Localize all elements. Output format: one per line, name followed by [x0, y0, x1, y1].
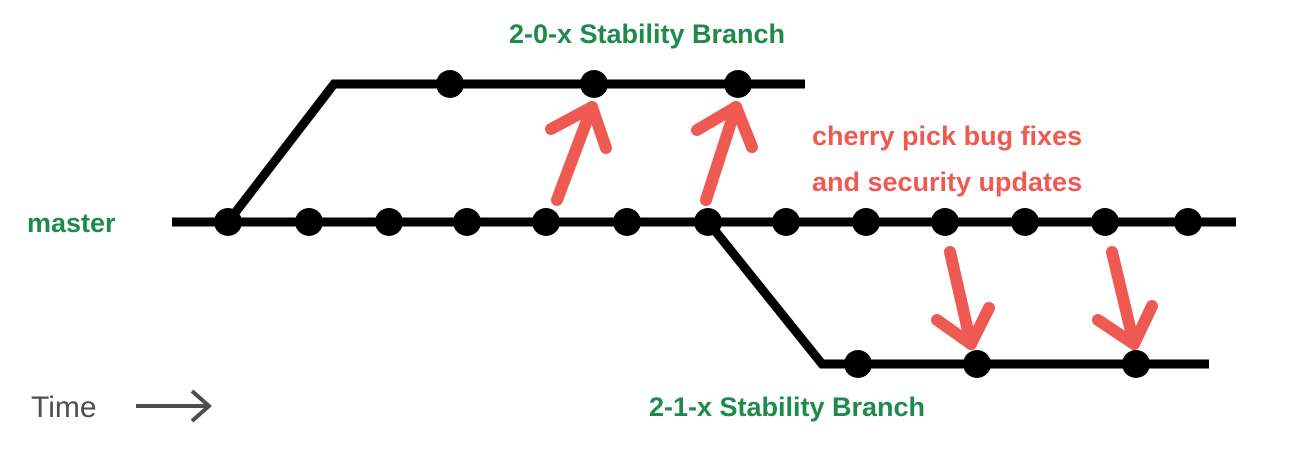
commit-dot[interactable] — [580, 70, 608, 98]
cherry-pick-arrow-up-icon — [551, 107, 606, 200]
cherry-pick-arrow-up-icon — [697, 107, 752, 200]
commit-dot[interactable] — [844, 350, 872, 378]
commit-dot[interactable] — [694, 208, 722, 236]
commit-dot[interactable] — [453, 208, 481, 236]
commit-dot[interactable] — [1174, 208, 1202, 236]
master-branch-label: master — [27, 208, 116, 238]
bottom-branch-label: 2-1-x Stability Branch — [649, 392, 925, 422]
commit-dot[interactable] — [963, 350, 991, 378]
cherry-pick-arrow-down-icon — [937, 252, 989, 344]
commit-dot[interactable] — [1011, 208, 1039, 236]
commit-dot[interactable] — [724, 70, 752, 98]
cherry-pick-annotation-line1: cherry pick bug fixes — [812, 121, 1082, 151]
git-branch-canvas: 2-0-x Stability Branch 2-1-x Stability B… — [0, 0, 1310, 456]
cherry-pick-arrow-down-icon — [1098, 252, 1152, 344]
commit-dot[interactable] — [613, 208, 641, 236]
commit-dot[interactable] — [436, 70, 464, 98]
commit-dot[interactable] — [931, 208, 959, 236]
commit-dot[interactable] — [1122, 350, 1150, 378]
master-branch-group — [172, 208, 1236, 236]
time-axis — [136, 391, 209, 421]
time-axis-label: Time — [31, 391, 97, 424]
top-branch-label: 2-0-x Stability Branch — [509, 19, 785, 49]
commit-dot[interactable] — [214, 208, 242, 236]
commit-dot[interactable] — [532, 208, 560, 236]
commit-dot[interactable] — [772, 208, 800, 236]
git-branch-diagram: 2-0-x Stability Branch 2-1-x Stability B… — [0, 0, 1310, 456]
commit-dot[interactable] — [1091, 208, 1119, 236]
cherry-pick-annotation-line2: and security updates — [812, 167, 1082, 197]
commit-dot[interactable] — [375, 208, 403, 236]
commit-dot[interactable] — [295, 208, 323, 236]
commit-dot[interactable] — [852, 208, 880, 236]
